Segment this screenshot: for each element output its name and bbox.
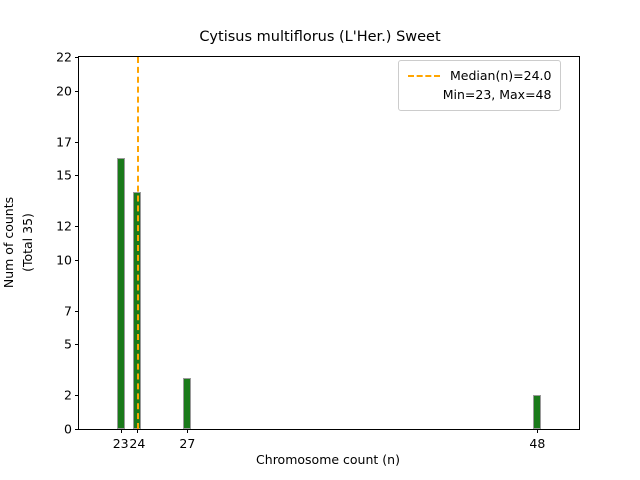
- y-tick-mark: [75, 57, 79, 58]
- y-tick-mark: [75, 429, 79, 430]
- y-tick-mark: [75, 344, 79, 345]
- chart-legend: Median(n)=24.0 Min=23, Max=48: [398, 60, 561, 111]
- y-tick-mark: [75, 311, 79, 312]
- y-tick-label: 15: [56, 168, 72, 183]
- y-tick-label: 12: [56, 219, 72, 234]
- y-tick-mark: [75, 260, 79, 261]
- y-tick-label: 0: [64, 422, 72, 437]
- x-axis-label: Chromosome count (n): [78, 452, 578, 467]
- y-tick-label: 17: [56, 134, 72, 149]
- median-line: [137, 57, 139, 429]
- x-tick-mark: [187, 429, 188, 433]
- x-tick-mark: [137, 429, 138, 433]
- y-axis-label-text: Num of counts: [2, 196, 17, 287]
- y-tick-label: 7: [64, 303, 72, 318]
- y-tick-label: 2: [64, 388, 72, 403]
- x-tick-mark: [121, 429, 122, 433]
- legend-label-minmax: Min=23, Max=48: [443, 87, 552, 102]
- y-tick-mark: [75, 395, 79, 396]
- y-tick-label: 22: [56, 50, 72, 65]
- y-tick-mark: [75, 142, 79, 143]
- chart-title: Cytisus multiflorus (L'Her.) Sweet: [0, 29, 640, 45]
- x-tick-label: 24: [129, 436, 145, 451]
- y-axis-label: Num of counts: [0, 56, 18, 428]
- x-tick-mark: [537, 429, 538, 433]
- legend-entry-median: Median(n)=24.0: [408, 66, 551, 85]
- legend-label-median: Median(n)=24.0: [450, 68, 551, 83]
- x-tick-label: 48: [529, 436, 545, 451]
- plot-area: 0257101215172022 23242748: [78, 56, 580, 430]
- x-tick-label: 27: [179, 436, 195, 451]
- chart-figure: Cytisus multiflorus (L'Her.) Sweet Num o…: [0, 0, 640, 480]
- y-tick-label: 10: [56, 252, 72, 267]
- y-tick-mark: [75, 226, 79, 227]
- y-tick-mark: [75, 91, 79, 92]
- y-axis-sublabel: (Total 35): [18, 56, 36, 428]
- y-tick-label: 5: [64, 337, 72, 352]
- y-tick-label: 20: [56, 83, 72, 98]
- plot-inner: [79, 57, 579, 429]
- y-tick-mark: [75, 175, 79, 176]
- legend-entry-minmax: Min=23, Max=48: [408, 85, 551, 104]
- dashed-line-icon: [408, 75, 440, 77]
- bar: [183, 378, 191, 429]
- x-tick-label: 23: [113, 436, 129, 451]
- bar: [117, 158, 125, 429]
- y-axis-sublabel-text: (Total 35): [20, 213, 35, 272]
- bar: [533, 395, 541, 429]
